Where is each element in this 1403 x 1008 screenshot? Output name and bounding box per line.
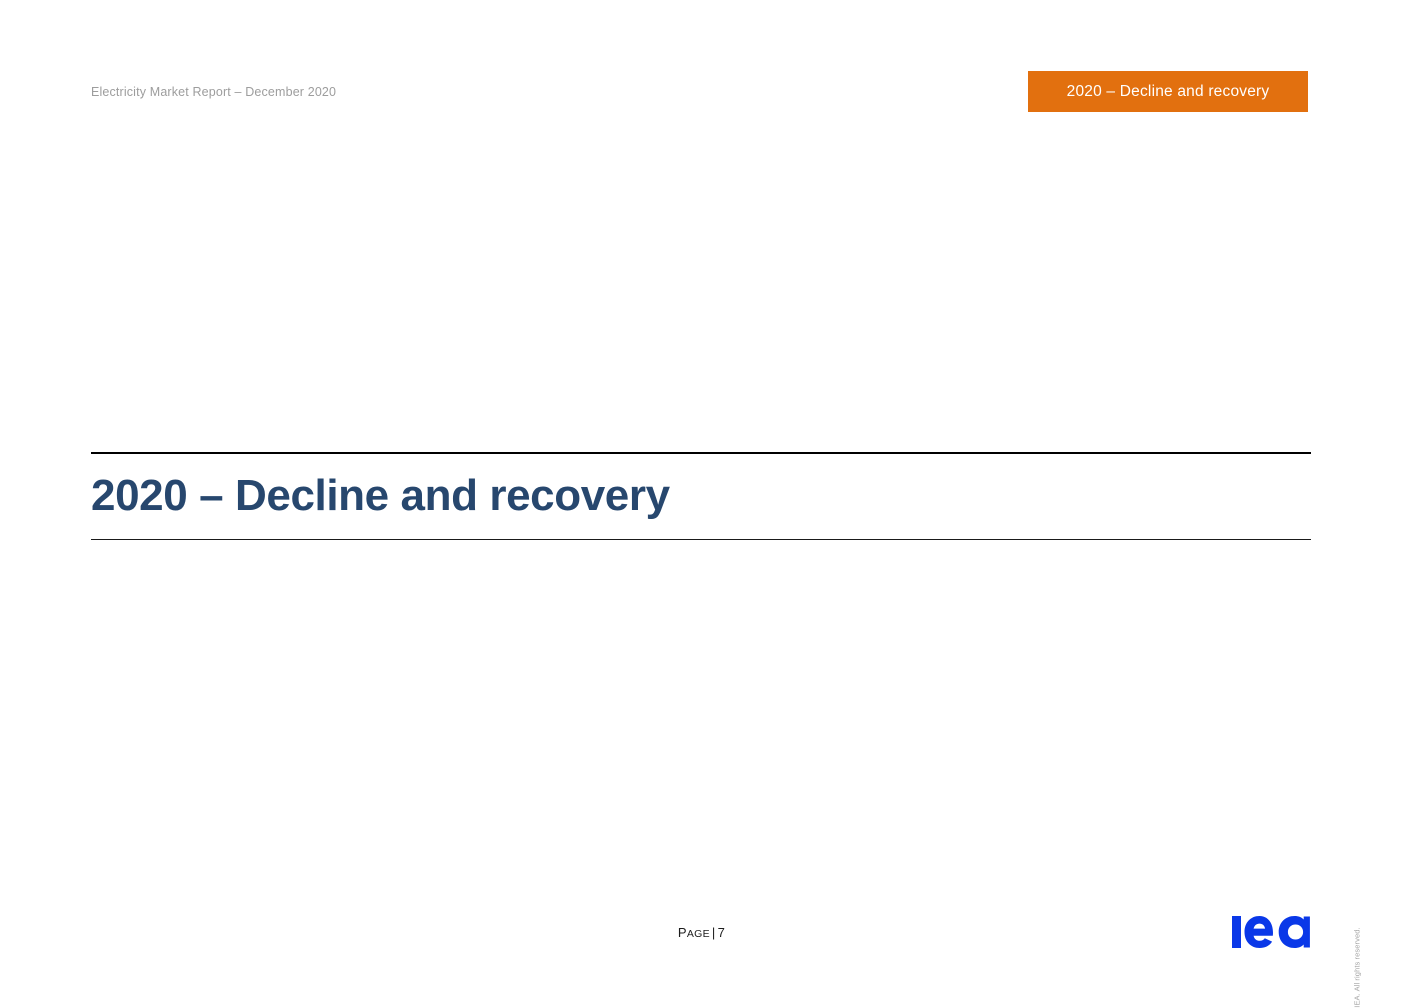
iea-logo <box>1232 914 1310 950</box>
report-header: Electricity Market Report – December 202… <box>91 85 336 99</box>
title-block: 2020 – Decline and recovery <box>91 452 1311 540</box>
page-separator: | <box>710 925 718 940</box>
page-title: 2020 – Decline and recovery <box>91 454 1311 539</box>
copyright-notice: IEA. All rights reserved. <box>1348 862 1366 972</box>
section-badge-label: 2020 – Decline and recovery <box>1067 83 1270 101</box>
page-label-rest: AGE <box>687 928 710 940</box>
page-number: 7 <box>718 925 726 940</box>
page-footer: PAGE|7 <box>0 925 1403 940</box>
copyright-text: IEA. All rights reserved. <box>1353 927 1362 1007</box>
rule-below-title <box>91 539 1311 540</box>
section-badge: 2020 – Decline and recovery <box>1028 71 1308 112</box>
slide-canvas: Electricity Market Report – December 202… <box>0 0 1403 992</box>
page-label-initial: P <box>678 925 687 940</box>
